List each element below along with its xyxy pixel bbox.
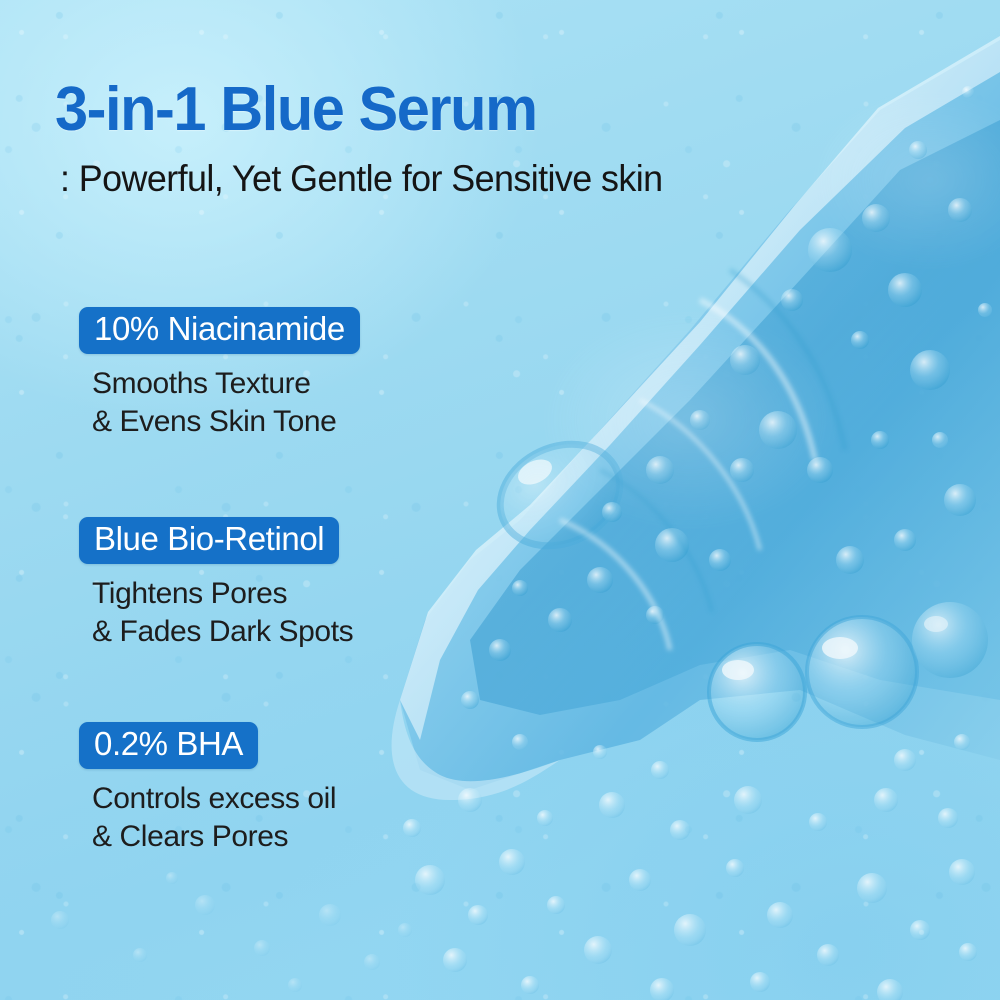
status-badge: 0.2% BHA [79,722,258,769]
feature-item: 10% Niacinamide Smooths Texture & Evens … [79,307,360,441]
feature-description-line: & Fades Dark Spots [92,613,353,651]
feature-description: Controls excess oil & Clears Pores [92,780,336,856]
feature-description-line: Tightens Pores [92,575,353,613]
feature-item: 0.2% BHA Controls excess oil & Clears Po… [79,722,336,856]
status-badge: Blue Bio-Retinol [79,517,339,564]
feature-description-line: Controls excess oil [92,780,336,818]
feature-item: Blue Bio-Retinol Tightens Pores & Fades … [79,517,353,651]
poster-content: 3-in-1 Blue Serum : Powerful, Yet Gentle… [0,0,1000,1000]
feature-description: Smooths Texture & Evens Skin Tone [92,365,360,441]
feature-description-line: Smooths Texture [92,365,360,403]
feature-description: Tightens Pores & Fades Dark Spots [92,575,353,651]
page-subtitle: : Powerful, Yet Gentle for Sensitive ski… [60,160,663,197]
product-poster: 3-in-1 Blue Serum : Powerful, Yet Gentle… [0,0,1000,1000]
feature-description-line: & Clears Pores [92,818,336,856]
status-badge: 10% Niacinamide [79,307,360,354]
feature-description-line: & Evens Skin Tone [92,403,360,441]
page-title: 3-in-1 Blue Serum [55,79,537,141]
